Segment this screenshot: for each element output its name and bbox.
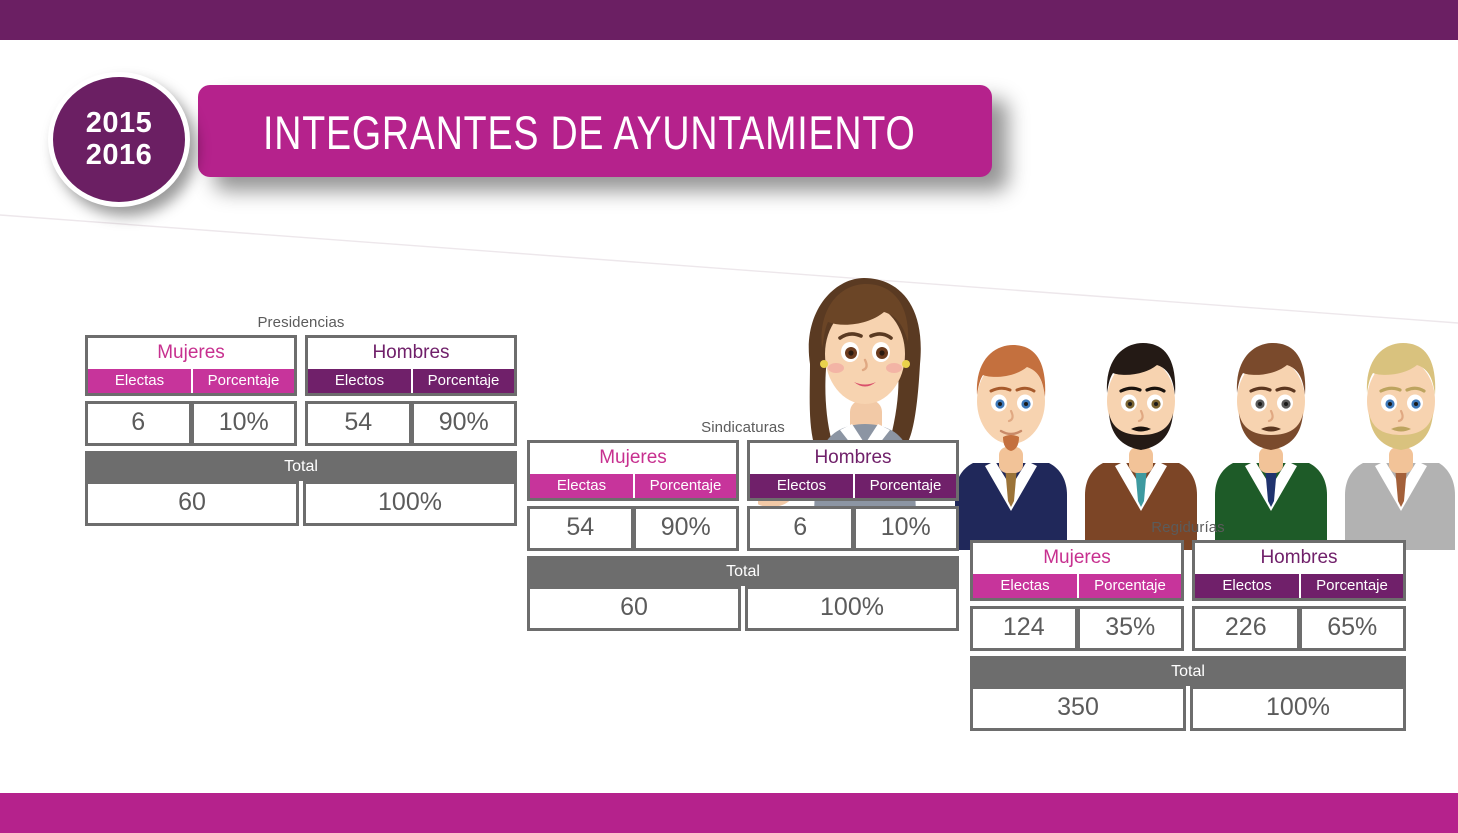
top-accent-bar <box>0 0 1458 40</box>
women-percent-header: Porcentaje <box>191 369 294 393</box>
men-header-box: Hombres Electos Porcentaje <box>305 335 517 396</box>
women-percent-value: 35% <box>1077 606 1185 651</box>
slide-root: INTEGRANTES DE AYUNTAMIENTO 2015 2016 <box>0 0 1458 833</box>
bottom-accent-bar <box>0 793 1458 833</box>
total-row: 60 100% <box>85 481 517 526</box>
women-group-label: Mujeres <box>530 443 736 474</box>
men-values: 54 90% <box>305 396 517 446</box>
women-header-box: Mujeres Electas Porcentaje <box>85 335 297 396</box>
men-column-header: Hombres Electos Porcentaje <box>1192 540 1406 601</box>
women-column-header: Mujeres Electas Porcentaje <box>970 540 1184 601</box>
table-block-presidencias: Presidencias Mujeres Electas Porcentaje … <box>85 314 517 526</box>
year-badge-top: 2015 <box>86 108 153 139</box>
women-subheader-row: Electas Porcentaje <box>530 474 736 498</box>
women-count-value: 54 <box>527 506 634 551</box>
women-subheader-row: Electas Porcentaje <box>88 369 294 393</box>
header-pair: Mujeres Electas Porcentaje Hombres Elect… <box>85 335 517 396</box>
total-label: Total <box>970 656 1406 686</box>
men-column-header: Hombres Electos Porcentaje <box>305 335 517 396</box>
women-count-header: Electas <box>973 574 1077 598</box>
total-count-value: 60 <box>527 586 741 631</box>
women-values: 6 10% <box>85 396 297 446</box>
page-title: INTEGRANTES DE AYUNTAMIENTO <box>263 94 839 170</box>
men-count-value: 54 <box>305 401 412 446</box>
men-header-box: Hombres Electos Porcentaje <box>1192 540 1406 601</box>
women-value-row: 54 90% <box>527 506 739 551</box>
women-percent-value: 10% <box>191 401 298 446</box>
men-percent-header: Porcentaje <box>853 474 956 498</box>
men-percent-header: Porcentaje <box>1299 574 1403 598</box>
men-value-row: 226 65% <box>1192 606 1406 651</box>
women-column-header: Mujeres Electas Porcentaje <box>85 335 297 396</box>
value-pair: 6 10% 54 90% <box>85 396 517 446</box>
women-header-box: Mujeres Electas Porcentaje <box>970 540 1184 601</box>
year-badge: 2015 2016 <box>48 72 190 207</box>
value-pair: 54 90% 6 10% <box>527 501 959 551</box>
women-count-value: 6 <box>85 401 192 446</box>
men-count-value: 6 <box>747 506 854 551</box>
header-pair: Mujeres Electas Porcentaje Hombres Elect… <box>970 540 1406 601</box>
block-title-sindicaturas: Sindicaturas <box>527 419 959 436</box>
men-count-header: Electos <box>1195 574 1299 598</box>
men-count-header: Electos <box>308 369 411 393</box>
total-row: 60 100% <box>527 586 959 631</box>
men-percent-value: 10% <box>853 506 960 551</box>
men-subheader-row: Electos Porcentaje <box>308 369 514 393</box>
total-count-value: 60 <box>85 481 299 526</box>
men-column-header: Hombres Electos Porcentaje <box>747 440 959 501</box>
men-count-header: Electos <box>750 474 853 498</box>
women-percent-header: Porcentaje <box>633 474 736 498</box>
men-value-row: 6 10% <box>747 506 959 551</box>
women-values: 124 35% <box>970 601 1184 651</box>
men-group-label: Hombres <box>1195 543 1403 574</box>
men-subheader-row: Electos Porcentaje <box>1195 574 1403 598</box>
women-count-header: Electas <box>530 474 633 498</box>
total-label: Total <box>527 556 959 586</box>
value-pair: 124 35% 226 65% <box>970 601 1406 651</box>
men-percent-value: 90% <box>411 401 518 446</box>
men-count-value: 226 <box>1192 606 1300 651</box>
total-count-value: 350 <box>970 686 1186 731</box>
women-count-header: Electas <box>88 369 191 393</box>
header-pair: Mujeres Electas Porcentaje Hombres Elect… <box>527 440 959 501</box>
men-subheader-row: Electos Porcentaje <box>750 474 956 498</box>
women-count-value: 124 <box>970 606 1078 651</box>
total-percent-value: 100% <box>745 586 959 631</box>
women-header-box: Mujeres Electas Porcentaje <box>527 440 739 501</box>
men-values: 6 10% <box>747 501 959 551</box>
women-group-label: Mujeres <box>973 543 1181 574</box>
women-value-row: 6 10% <box>85 401 297 446</box>
total-percent-value: 100% <box>303 481 517 526</box>
men-group-label: Hombres <box>750 443 956 474</box>
year-badge-bottom: 2016 <box>86 140 153 171</box>
men-header-box: Hombres Electos Porcentaje <box>747 440 959 501</box>
men-values: 226 65% <box>1192 601 1406 651</box>
table-block-sindicaturas: Sindicaturas Mujeres Electas Porcentaje … <box>527 419 959 631</box>
block-title-presidencias: Presidencias <box>85 314 517 331</box>
men-value-row: 54 90% <box>305 401 517 446</box>
title-banner: INTEGRANTES DE AYUNTAMIENTO 2015 2016 <box>48 72 968 207</box>
women-column-header: Mujeres Electas Porcentaje <box>527 440 739 501</box>
block-title-regidurias: Regidurías <box>970 519 1406 536</box>
total-row: 350 100% <box>970 686 1406 731</box>
men-percent-header: Porcentaje <box>411 369 514 393</box>
men-percent-value: 65% <box>1299 606 1407 651</box>
women-subheader-row: Electas Porcentaje <box>973 574 1181 598</box>
total-label: Total <box>85 451 517 481</box>
four-men-illustration <box>955 335 1455 550</box>
total-percent-value: 100% <box>1190 686 1406 731</box>
women-value-row: 124 35% <box>970 606 1184 651</box>
women-percent-header: Porcentaje <box>1077 574 1181 598</box>
women-percent-value: 90% <box>633 506 740 551</box>
table-block-regidurias: Regidurías Mujeres Electas Porcentaje Ho… <box>970 519 1406 731</box>
women-group-label: Mujeres <box>88 338 294 369</box>
women-values: 54 90% <box>527 501 739 551</box>
men-group-label: Hombres <box>308 338 514 369</box>
